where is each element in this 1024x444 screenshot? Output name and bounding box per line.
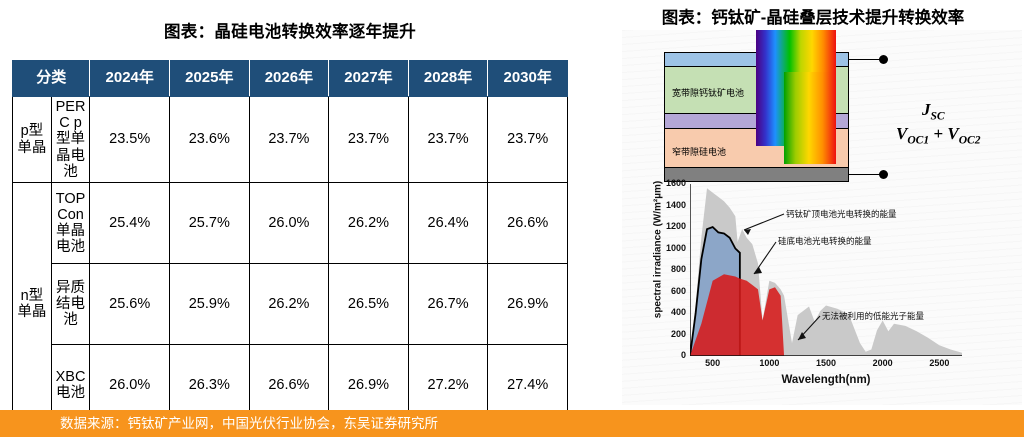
left-chart-title: 图表：晶硅电池转换效率逐年提升 bbox=[0, 18, 580, 42]
column-header-2024: 2024年 bbox=[90, 61, 170, 97]
x-tick-label: 2500 bbox=[929, 358, 949, 368]
cell-value: 25.7% bbox=[170, 183, 250, 264]
table-body: p型单晶 PERC p型单晶电池 23.5% 23.6% 23.7% 23.7%… bbox=[13, 97, 568, 426]
y-tick-label: 600 bbox=[652, 286, 686, 296]
table-header: 分类 2024年 2025年 2026年 2027年 2028年 2030年 bbox=[13, 61, 568, 97]
cell-value: 25.6% bbox=[90, 264, 170, 345]
formula-short-circuit-current: JSC bbox=[922, 100, 945, 122]
column-header-2030: 2030年 bbox=[488, 61, 568, 97]
top-terminal-dot-icon bbox=[879, 55, 888, 64]
left-panel: 图表：晶硅电池转换效率逐年提升 分类 2024年 2025年 2026年 202… bbox=[0, 0, 600, 410]
formula-open-circuit-voltage: VOC1 + VOC2 bbox=[896, 124, 981, 146]
y-tick-label: 1400 bbox=[652, 200, 686, 210]
cell-value: 23.7% bbox=[488, 97, 568, 183]
tandem-cell-diagram: 宽带隙钙钛矿电池 窄带隙硅电池 JSC VOC1 + VOC2 bbox=[664, 52, 864, 182]
column-header-2025: 2025年 bbox=[170, 61, 250, 97]
tandem-figure: 宽带隙钙钛矿电池 窄带隙硅电池 JSC VOC1 + VOC2 spectral… bbox=[622, 30, 1022, 405]
cell-value: 23.5% bbox=[90, 97, 170, 183]
column-header-2027: 2027年 bbox=[329, 61, 409, 97]
cell-value: 26.2% bbox=[249, 264, 329, 345]
cell-value: 26.7% bbox=[408, 264, 488, 345]
cell-value: 25.4% bbox=[90, 183, 170, 264]
y-tick-label: 800 bbox=[652, 264, 686, 274]
x-tick-label: 500 bbox=[705, 358, 720, 368]
cell-value: 26.4% bbox=[408, 183, 488, 264]
cell-type-topcon: TOPCon单晶电池 bbox=[51, 183, 90, 264]
x-tick-label: 1500 bbox=[816, 358, 836, 368]
column-header-2028: 2028年 bbox=[408, 61, 488, 97]
cell-type-hjt: 异质结电池 bbox=[51, 264, 90, 345]
bottom-terminal-dot-icon bbox=[879, 170, 888, 179]
right-panel: 图表：钙钛矿-晶硅叠层技术提升转换效率 宽带隙钙钛矿电池 窄带隙硅电池 JSC … bbox=[600, 0, 1024, 410]
y-tick-label: 0 bbox=[652, 350, 686, 360]
y-tick-label: 400 bbox=[652, 307, 686, 317]
table-header-row: 分类 2024年 2025年 2026年 2027年 2028年 2030年 bbox=[13, 61, 568, 97]
cell-value: 26.6% bbox=[488, 183, 568, 264]
column-header-category: 分类 bbox=[13, 61, 90, 97]
y-tick-label: 1600 bbox=[652, 178, 686, 188]
annotation-unused-photons: 无法被利用的低能光子能量 bbox=[822, 310, 924, 322]
cell-value: 26.9% bbox=[488, 264, 568, 345]
footer-source-bar: 数据来源：钙钛矿产业网，中国光伏行业协会，东吴证券研究所 bbox=[0, 410, 1024, 437]
annotation-silicon-energy: 硅底电池光电转换的能量 bbox=[778, 235, 872, 247]
spectral-irradiance-chart: spectral irradiance (W/m²µm) 02004006008… bbox=[626, 182, 1022, 402]
annotation-perovskite-energy: 钙钛矿顶电池光电转换的能量 bbox=[786, 208, 897, 220]
cell-type-perc: PERC p型单晶电池 bbox=[51, 97, 90, 183]
y-axis-ticks: 02004006008001000120014001600 bbox=[648, 182, 686, 352]
transmitted-spectrum-icon bbox=[784, 72, 836, 164]
cell-category-n-type: n型单晶 bbox=[13, 183, 52, 426]
cell-value: 23.7% bbox=[329, 97, 409, 183]
layer-label-perovskite: 宽带隙钙钛矿电池 bbox=[672, 86, 744, 99]
source-text: 数据来源：钙钛矿产业网，中国光伏行业协会，东吴证券研究所 bbox=[60, 410, 438, 437]
right-chart-title: 图表：钙钛矿-晶硅叠层技术提升转换效率 bbox=[608, 4, 1018, 28]
x-tick-label: 1000 bbox=[759, 358, 779, 368]
cell-category-p-type: p型单晶 bbox=[13, 97, 52, 183]
y-tick-label: 1000 bbox=[652, 243, 686, 253]
table-row: 异质结电池 25.6% 25.9% 26.2% 26.5% 26.7% 26.9… bbox=[13, 264, 568, 345]
layer-back-contact bbox=[664, 167, 849, 182]
table-row: p型单晶 PERC p型单晶电池 23.5% 23.6% 23.7% 23.7%… bbox=[13, 97, 568, 183]
x-axis-label: Wavelength(nm) bbox=[690, 374, 962, 386]
top-terminal-wire bbox=[848, 59, 882, 60]
bottom-terminal-wire bbox=[848, 174, 882, 175]
cell-value: 23.6% bbox=[170, 97, 250, 183]
column-header-2026: 2026年 bbox=[249, 61, 329, 97]
cell-value: 26.0% bbox=[249, 183, 329, 264]
cell-value: 23.7% bbox=[408, 97, 488, 183]
y-tick-label: 200 bbox=[652, 329, 686, 339]
x-axis-ticks: 5001000150020002500 bbox=[690, 358, 980, 372]
cell-value: 25.9% bbox=[170, 264, 250, 345]
cell-value: 26.5% bbox=[329, 264, 409, 345]
efficiency-table: 分类 2024年 2025年 2026年 2027年 2028年 2030年 p… bbox=[12, 60, 568, 426]
x-tick-label: 2000 bbox=[873, 358, 893, 368]
y-tick-label: 1200 bbox=[652, 221, 686, 231]
table-row: n型单晶 TOPCon单晶电池 25.4% 25.7% 26.0% 26.2% … bbox=[13, 183, 568, 264]
layer-label-silicon: 窄带隙硅电池 bbox=[672, 145, 726, 158]
cell-value: 23.7% bbox=[249, 97, 329, 183]
cell-value: 26.2% bbox=[329, 183, 409, 264]
